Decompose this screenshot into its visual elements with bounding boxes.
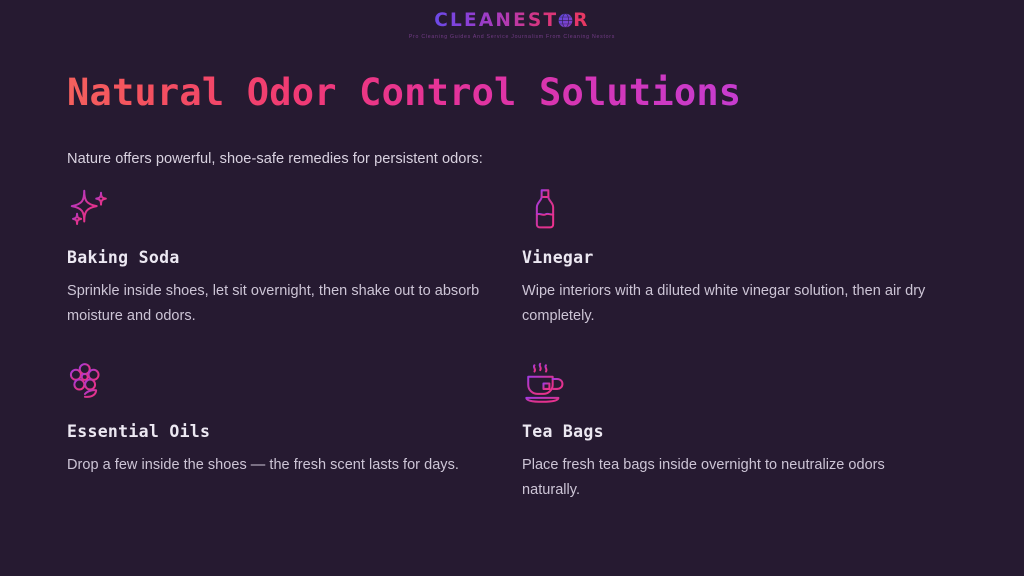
card-title: Tea Bags — [522, 422, 957, 442]
flower-icon — [67, 360, 113, 406]
sparkles-icon — [67, 186, 113, 232]
slide-root: CLEANEST R Pro Cleaning Guides And Servi… — [0, 0, 1024, 576]
globe-icon — [558, 13, 573, 28]
card-vinegar: Vinegar Wipe interiors with a diluted wh… — [522, 186, 957, 360]
brand-wordmark: CLEANEST R — [434, 12, 589, 31]
brand-tagline: Pro Cleaning Guides And Service Journali… — [0, 35, 1024, 40]
card-tea-bags: Tea Bags Place fresh tea bags inside ove… — [522, 360, 957, 503]
card-body: Wipe interiors with a diluted white vine… — [522, 279, 942, 329]
card-body: Place fresh tea bags inside overnight to… — [522, 453, 942, 503]
intro-text: Nature offers powerful, shoe-safe remedi… — [67, 149, 483, 170]
card-title: Baking Soda — [67, 248, 522, 268]
brand-header: CLEANEST R Pro Cleaning Guides And Servi… — [0, 12, 1024, 40]
page-title: Natural Odor Control Solutions — [67, 69, 741, 117]
card-body: Drop a few inside the shoes — the fresh … — [67, 453, 492, 478]
bottle-icon — [522, 186, 568, 232]
teacup-icon — [522, 360, 568, 406]
card-title: Vinegar — [522, 248, 957, 268]
card-essential-oils: Essential Oils Drop a few inside the sho… — [67, 360, 522, 503]
card-title: Essential Oils — [67, 422, 522, 442]
card-baking-soda: Baking Soda Sprinkle inside shoes, let s… — [67, 186, 522, 360]
card-body: Sprinkle inside shoes, let sit overnight… — [67, 279, 492, 329]
remedies-grid: Baking Soda Sprinkle inside shoes, let s… — [67, 186, 957, 503]
brand-name-part-1: CLEANEST — [434, 10, 558, 31]
brand-name-part-2: R — [573, 10, 589, 31]
